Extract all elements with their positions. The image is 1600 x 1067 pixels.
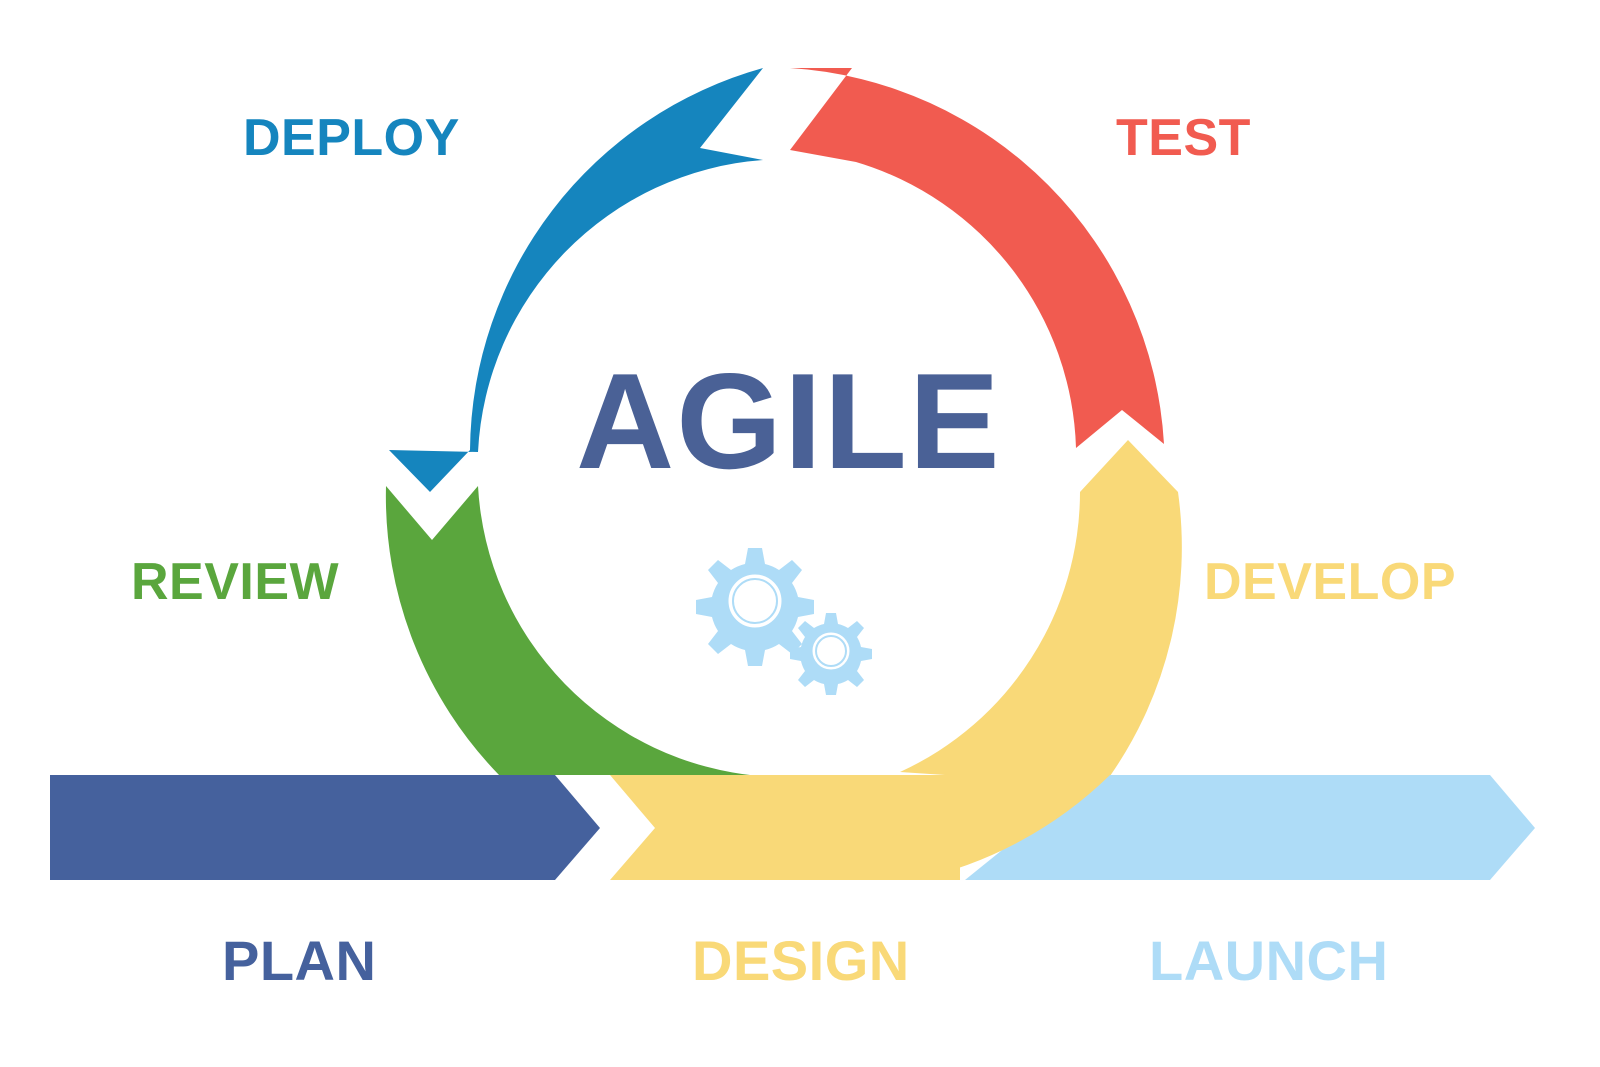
bar-label-design: DESIGN (692, 928, 910, 993)
gears-icon (696, 548, 872, 695)
ring-label-review: REVIEW (131, 552, 339, 612)
bar-label-plan: PLAN (222, 928, 376, 993)
agile-diagram-canvas: AGILE DEPLOY TEST DEVELOP REVIEW PLAN DE… (0, 0, 1600, 1067)
ring-segment-review[interactable] (386, 486, 760, 776)
agile-cycle-graphic (0, 0, 1600, 1067)
bar-label-launch: LAUNCH (1149, 928, 1388, 993)
ring-label-deploy: DEPLOY (243, 108, 460, 168)
ring-label-test: TEST (1116, 108, 1251, 168)
bar-shape-plan[interactable] (50, 775, 600, 880)
ring-label-develop: DEVELOP (1204, 552, 1456, 612)
page-title: AGILE (576, 343, 1002, 499)
